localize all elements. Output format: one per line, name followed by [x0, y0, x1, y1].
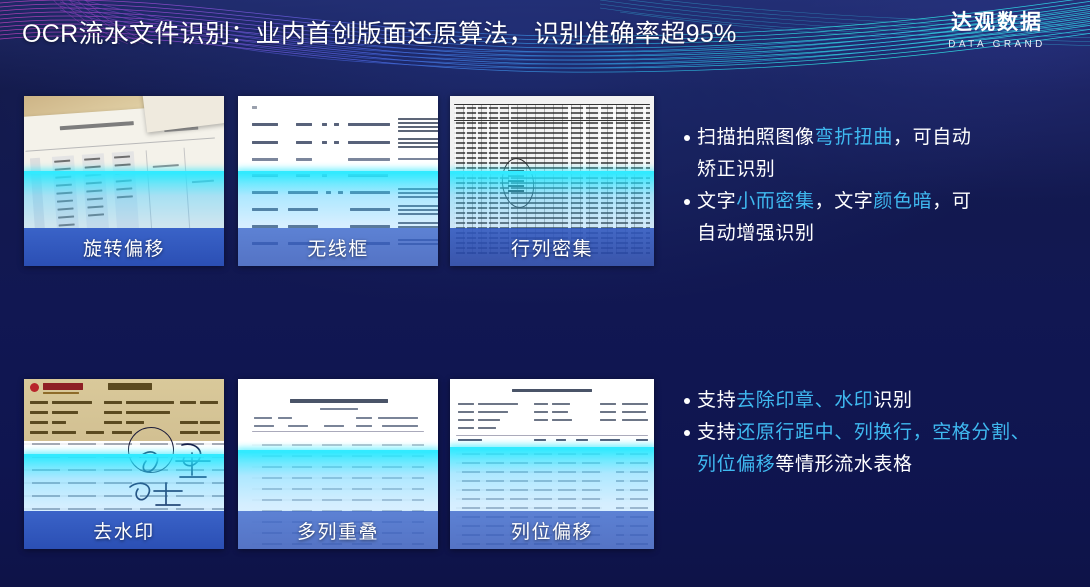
bullet-highlight: 去除印章、水印	[736, 390, 873, 411]
card-multi-column-overlap[interactable]: 多列重叠	[238, 379, 438, 549]
bullet-text: 矫正识别	[697, 154, 775, 186]
card-label: 行列密集	[450, 228, 654, 266]
bullet-highlight: 列位偏移	[697, 449, 775, 481]
bullet-text: 自动增强识别	[697, 218, 815, 250]
card-dense-grid[interactable]: 行列密集	[450, 96, 654, 266]
bullet-text: ，文字	[815, 191, 874, 212]
bullet-item: 支持还原行距中、列换行，空格分割、	[684, 417, 1030, 449]
bullet-text: ，可自动	[893, 127, 971, 148]
brand-logo-cn: 达观数据	[922, 10, 1072, 36]
card-label: 列位偏移	[450, 511, 654, 549]
bullet-text: 扫描拍照图像	[697, 127, 815, 148]
card-remove-watermark[interactable]: 去水印	[24, 379, 224, 549]
card-label: 无线框	[238, 228, 438, 266]
bullet-group-top: 扫描拍照图像弯折扭曲，可自动 矫正识别 文字小而密集，文字颜色暗，可 自动增强识…	[684, 122, 971, 250]
bullet-text: ，可	[932, 191, 971, 212]
bullet-item: 支持去除印章、水印识别	[684, 385, 1030, 417]
bullet-highlight: 还原行距中、列换行，空格分割、	[736, 422, 1030, 443]
bullet-item-continuation: 列位偏移等情形流水表格	[684, 449, 1030, 481]
bullet-item: 文字小而密集，文字颜色暗，可	[684, 186, 971, 218]
bullet-item-continuation: 自动增强识别	[684, 218, 971, 250]
bullet-highlight: 小而密集	[736, 191, 814, 212]
bullet-item: 扫描拍照图像弯折扭曲，可自动	[684, 122, 971, 154]
bullet-dot-icon	[684, 135, 690, 141]
bullet-text: 支持	[697, 390, 736, 411]
bullet-text: 支持	[697, 422, 736, 443]
bullet-text: 等情形流水表格	[775, 449, 912, 481]
bullet-highlight: 弯折扭曲	[815, 127, 893, 148]
bullet-dot-icon	[684, 199, 690, 205]
card-label: 旋转偏移	[24, 228, 224, 266]
brand-logo: 达观数据 DATA GRAND	[922, 10, 1072, 53]
bullet-text: 文字	[697, 191, 736, 212]
slide-root: OCR流水文件识别：业内首创版面还原算法，识别准确率超95% 达观数据 DATA…	[0, 0, 1090, 587]
brand-logo-en: DATA GRAND	[922, 37, 1072, 53]
card-column-shift[interactable]: 列位偏移	[450, 379, 654, 549]
card-label: 去水印	[24, 511, 224, 549]
bullet-group-bottom: 支持去除印章、水印识别 支持还原行距中、列换行，空格分割、 列位偏移等情形流水表…	[684, 385, 1030, 481]
card-borderless[interactable]: 无线框	[238, 96, 438, 266]
bullet-dot-icon	[684, 430, 690, 436]
card-rotated-offset[interactable]: 旋转偏移	[24, 96, 224, 266]
bullet-text: 识别	[873, 390, 912, 411]
page-title: OCR流水文件识别：业内首创版面还原算法，识别准确率超95%	[22, 17, 737, 51]
bullet-dot-icon	[684, 398, 690, 404]
bullet-highlight: 颜色暗	[873, 191, 932, 212]
bullet-item-continuation: 矫正识别	[684, 154, 971, 186]
card-label: 多列重叠	[238, 511, 438, 549]
